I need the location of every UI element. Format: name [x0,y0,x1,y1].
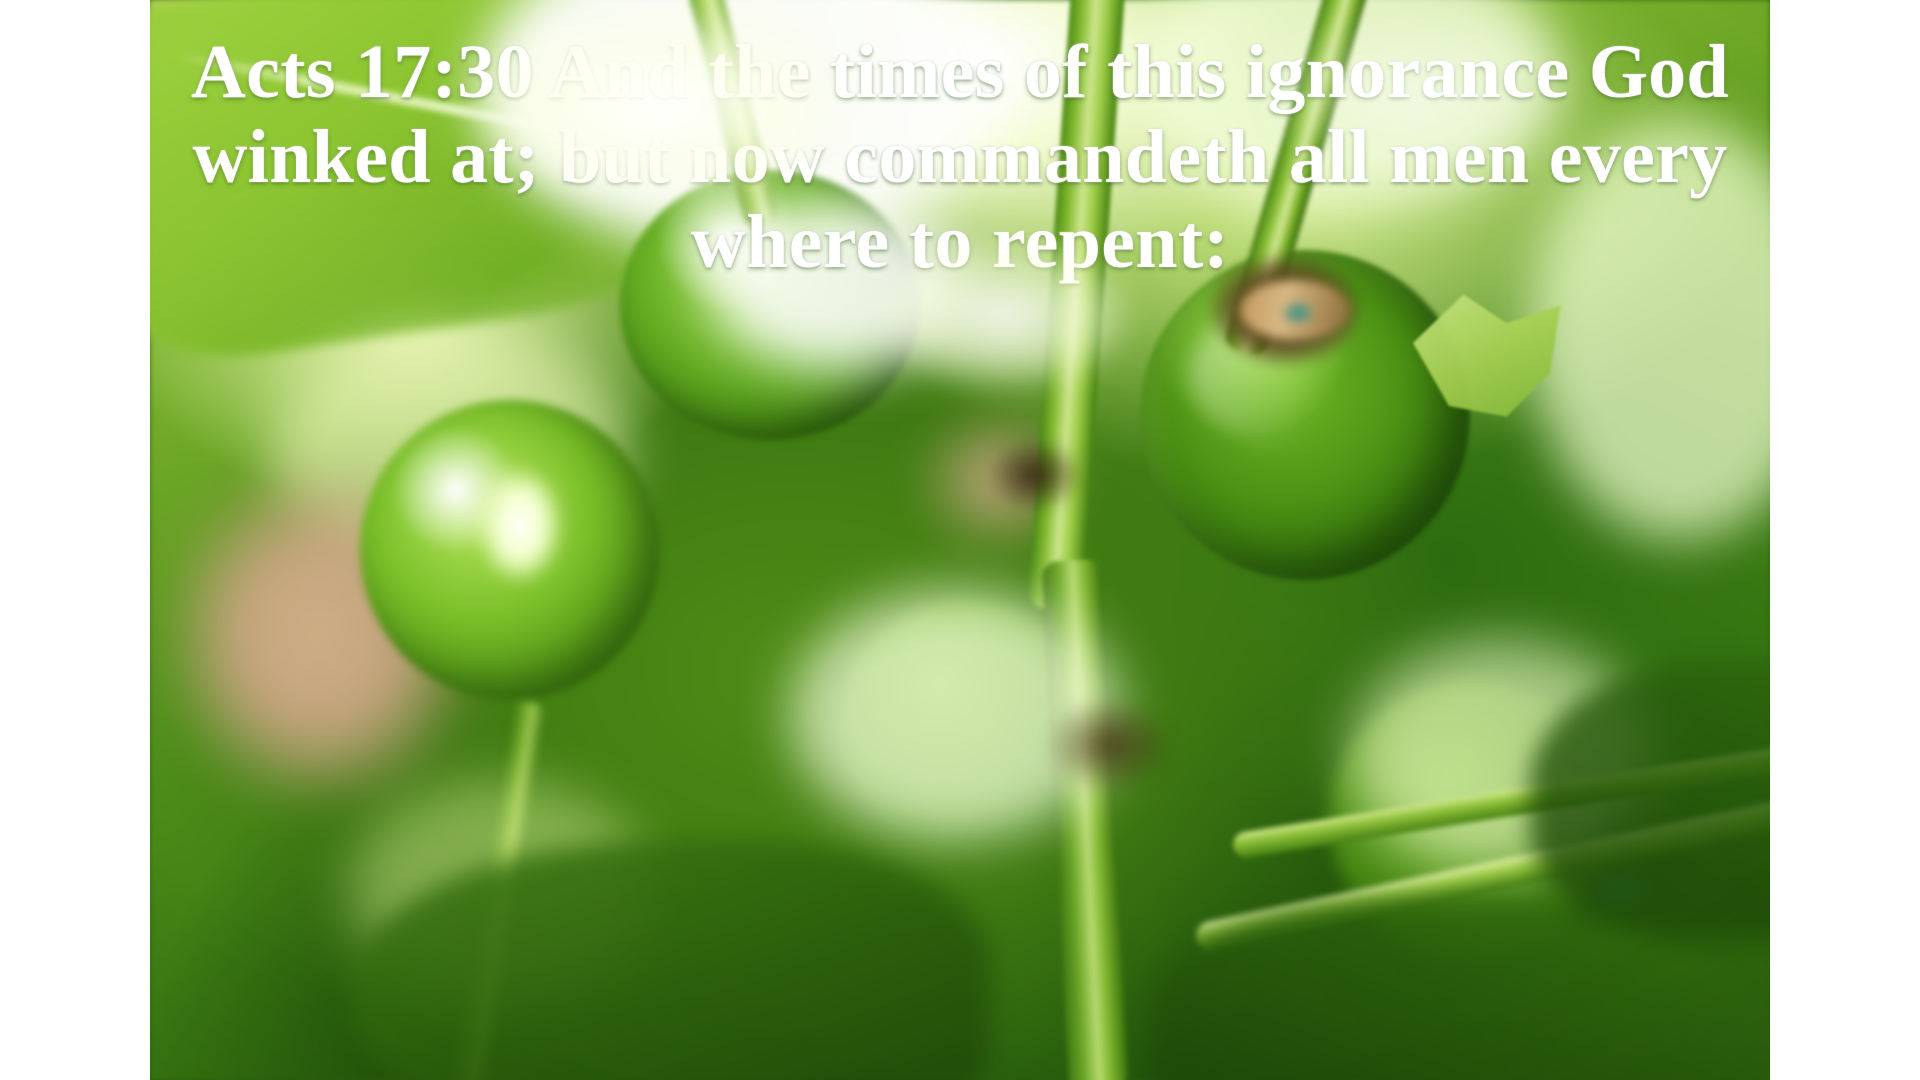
pepper-calyx [1240,280,1350,340]
stem-blemish-mid [990,440,1080,510]
stem-blemish-lower [1050,700,1170,790]
background-blur-terracotta-secondary [910,400,1090,560]
pepper-fruit-left [360,400,660,700]
dark-leaf-bottom-left [350,840,990,1080]
background-blur-terracotta [170,470,470,800]
verse-text: Acts 17:30 And the times of this ignoran… [180,30,1740,285]
plant-stem-arc-bottom-secondary [1194,796,1770,954]
plant-stem-lower-left [449,700,547,1080]
dark-leaf-right [1530,660,1770,940]
highlight-bloom-bottom-left [350,780,650,1000]
highlight-bloom-mid-left [270,330,630,570]
highlight-bloom-lower-center [790,590,1120,840]
leaflet-right [1395,280,1575,460]
plant-stem-arc-bottom [1231,746,1770,859]
pepper-fruit-bottom-right [1330,680,1610,960]
verse-overlay: Acts 17:30 And the times of this ignoran… [150,30,1770,285]
page-margin-right [1770,0,1920,1080]
page-margin-left [0,0,150,1080]
highlight-bloom-lower-right [1350,640,1650,870]
pepper-sheen [1190,300,1400,450]
dark-leaf-bottom-right [1150,900,1770,1080]
pepper-fruit-right [1140,250,1470,580]
pepper-fruit-lower-center [840,600,1090,850]
teal-fleck-bottom [1590,870,1650,910]
plant-stem-main-lower [1041,559,1129,1080]
screenshot-canvas: Acts 17:30 And the times of this ignoran… [0,0,1920,1080]
pepper-specular-highlight [480,470,560,580]
teal-fleck [1280,300,1316,326]
